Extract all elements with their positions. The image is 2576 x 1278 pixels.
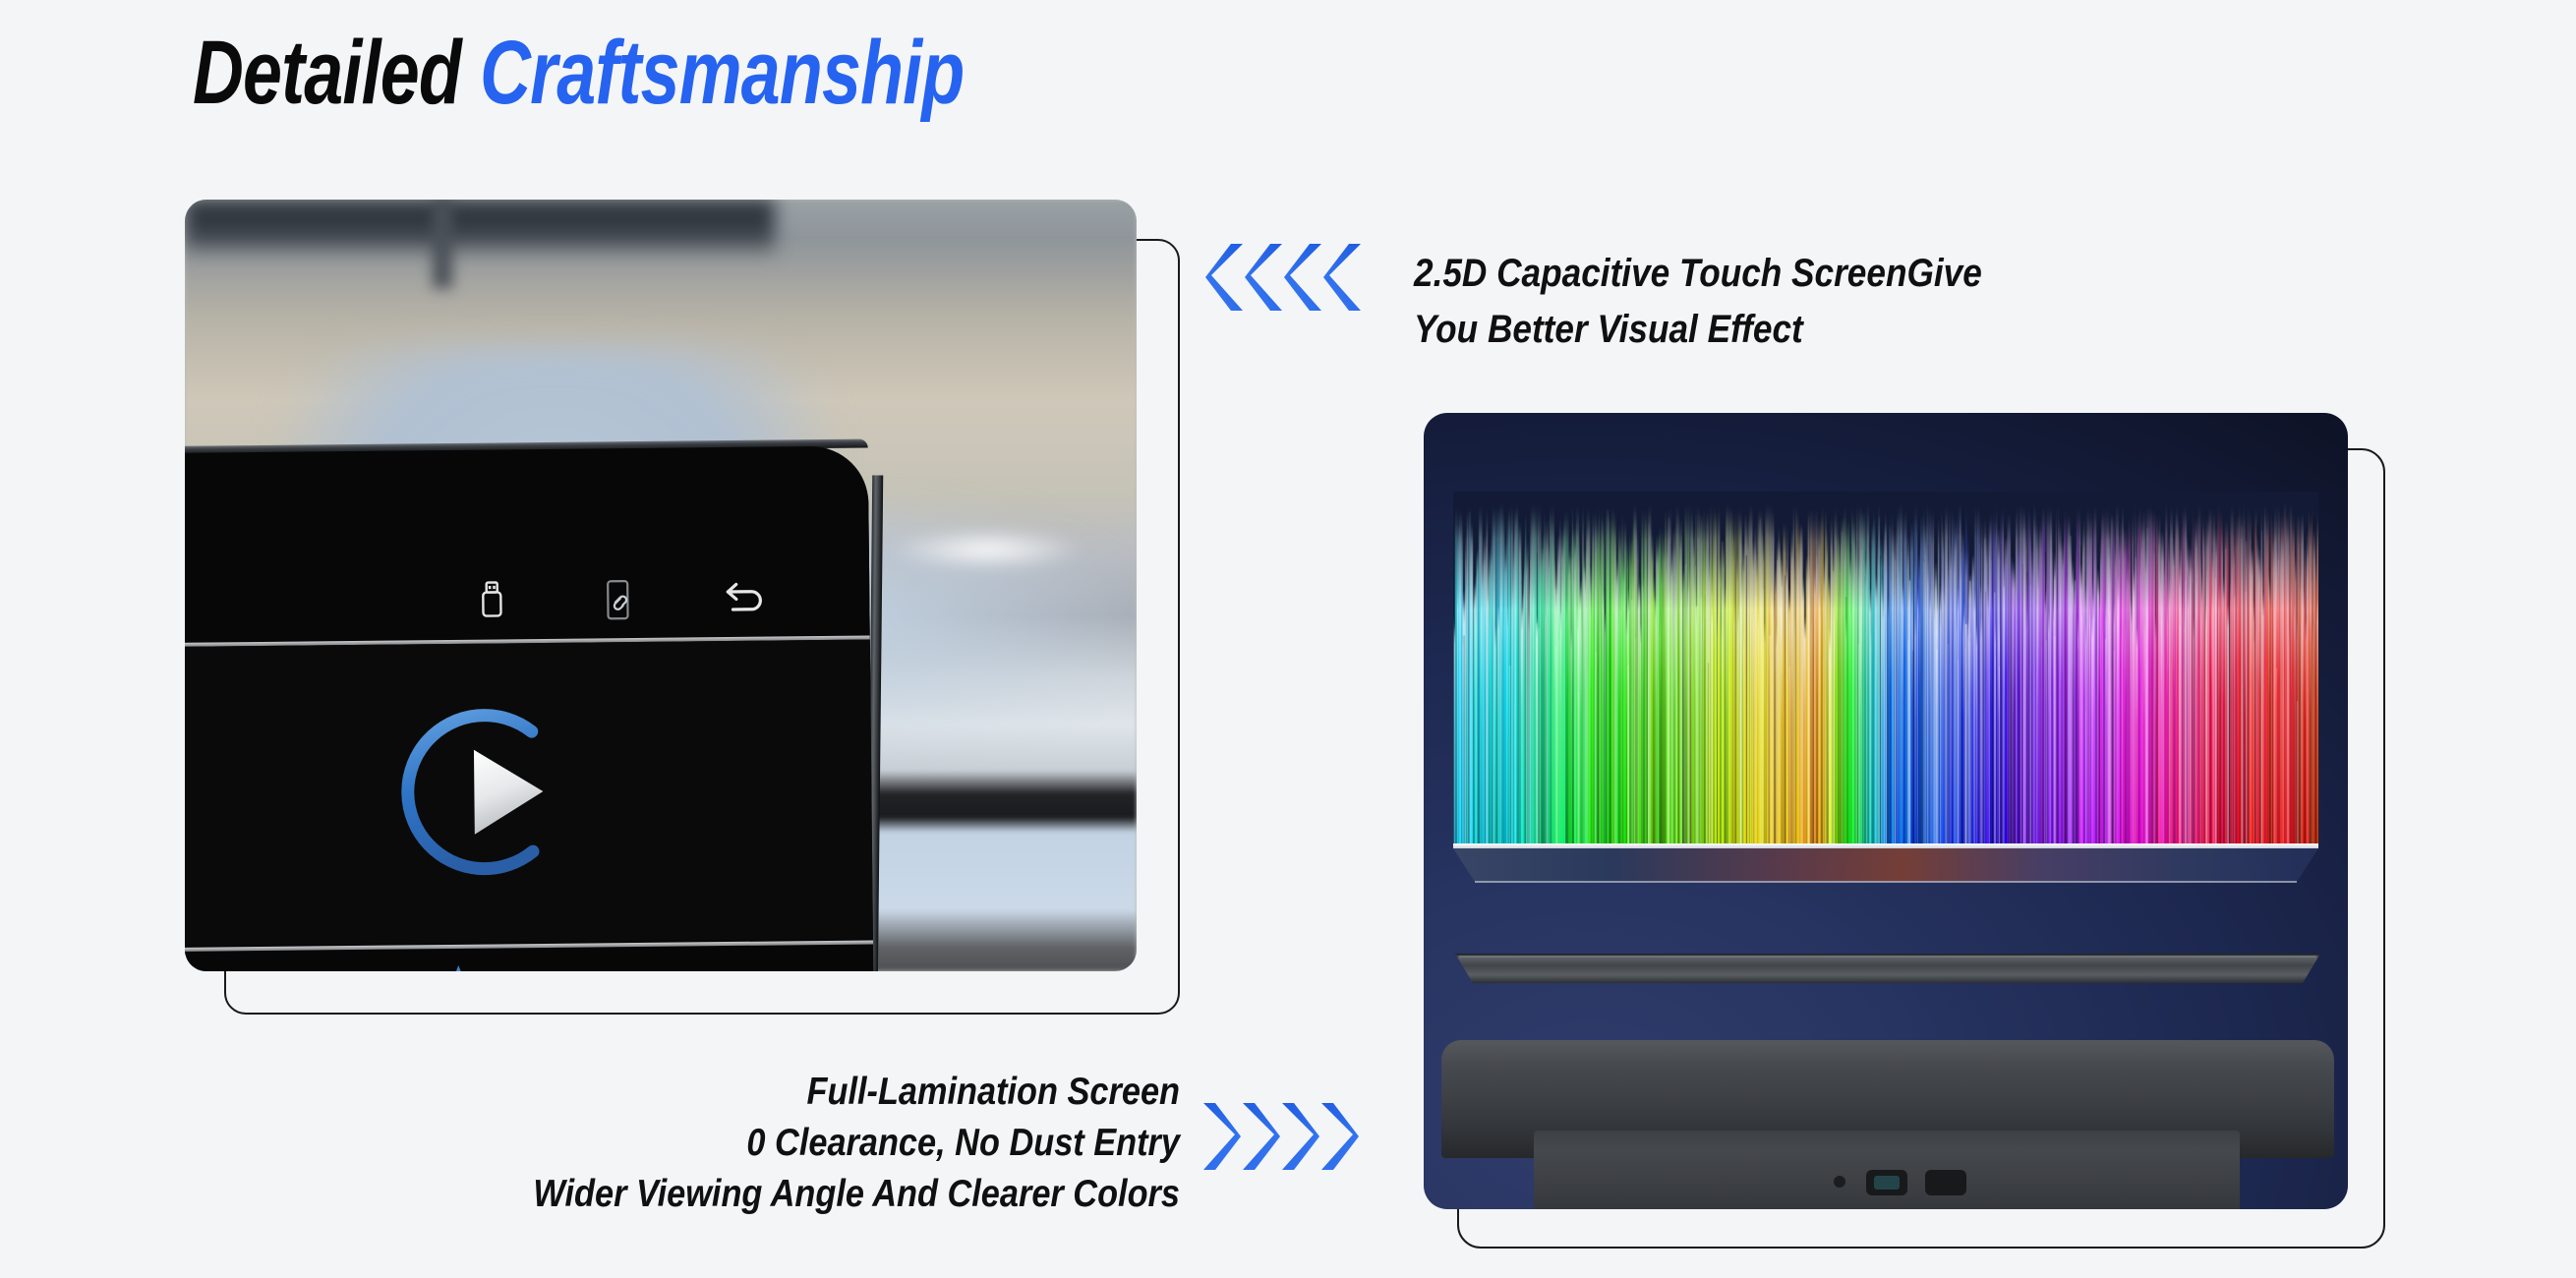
top-callout-text: 2.5D Capacitive Touch ScreenGive You Bet… (1414, 246, 2124, 358)
device-port-cluster (1534, 1131, 2240, 1209)
bottom-callout-text: Full-Lamination Screen 0 Clearance, No D… (392, 1067, 1180, 1220)
right-chevron-group (1201, 1101, 1359, 1172)
chevron-left-icon (1323, 242, 1363, 313)
chevron-right-icon (1319, 1101, 1359, 1172)
phone-link-icon[interactable] (596, 577, 639, 622)
usb-icon[interactable] (470, 578, 513, 623)
device-screen: y (185, 446, 874, 971)
display-panel-edge-view (1445, 952, 2330, 993)
display-underside-reflection (1453, 848, 2318, 888)
back-arrow-icon[interactable] (722, 576, 765, 621)
page-title-word-1: Detailed (193, 23, 461, 123)
chevron-right-icon (1241, 1101, 1280, 1172)
left-photo-card: y (185, 200, 1137, 971)
top-callout-line-1: 2.5D Capacitive Touch ScreenGive (1414, 246, 2124, 302)
navigation-chevron-icon[interactable] (399, 960, 518, 971)
page-title: Detailed Craftsmanship (193, 24, 964, 123)
top-callout-line-2: You Better Visual Effect (1414, 302, 2124, 358)
right-product-panel (1424, 413, 2348, 1209)
play-button[interactable] (392, 687, 601, 896)
color-spectrum-display (1453, 492, 2318, 845)
left-chevron-group (1205, 242, 1363, 313)
chevron-right-icon (1280, 1101, 1319, 1172)
page-title-word-2: Craftsmanship (480, 23, 964, 123)
media-player-card: y (185, 640, 873, 948)
blurred-dark-shape (185, 200, 775, 259)
screen-icon-row (470, 573, 766, 627)
bottom-callout-line-1: Full-Lamination Screen (392, 1067, 1180, 1118)
bottom-callout-line-3: Wider Viewing Angle And Clearer Colors (392, 1169, 1180, 1220)
chevron-left-icon (1245, 242, 1284, 313)
infotainment-head-unit: y (185, 446, 874, 971)
device-body-lower (1534, 1131, 2240, 1209)
play-ring-icon (392, 687, 601, 896)
chevron-left-icon (1284, 242, 1323, 313)
blurred-specular-highlight (889, 530, 1085, 569)
chevron-right-icon (1201, 1101, 1241, 1172)
chevron-left-icon (1205, 242, 1245, 313)
blurred-post (433, 200, 452, 288)
bottom-callout-line-2: 0 Clearance, No Dust Entry (392, 1118, 1180, 1169)
